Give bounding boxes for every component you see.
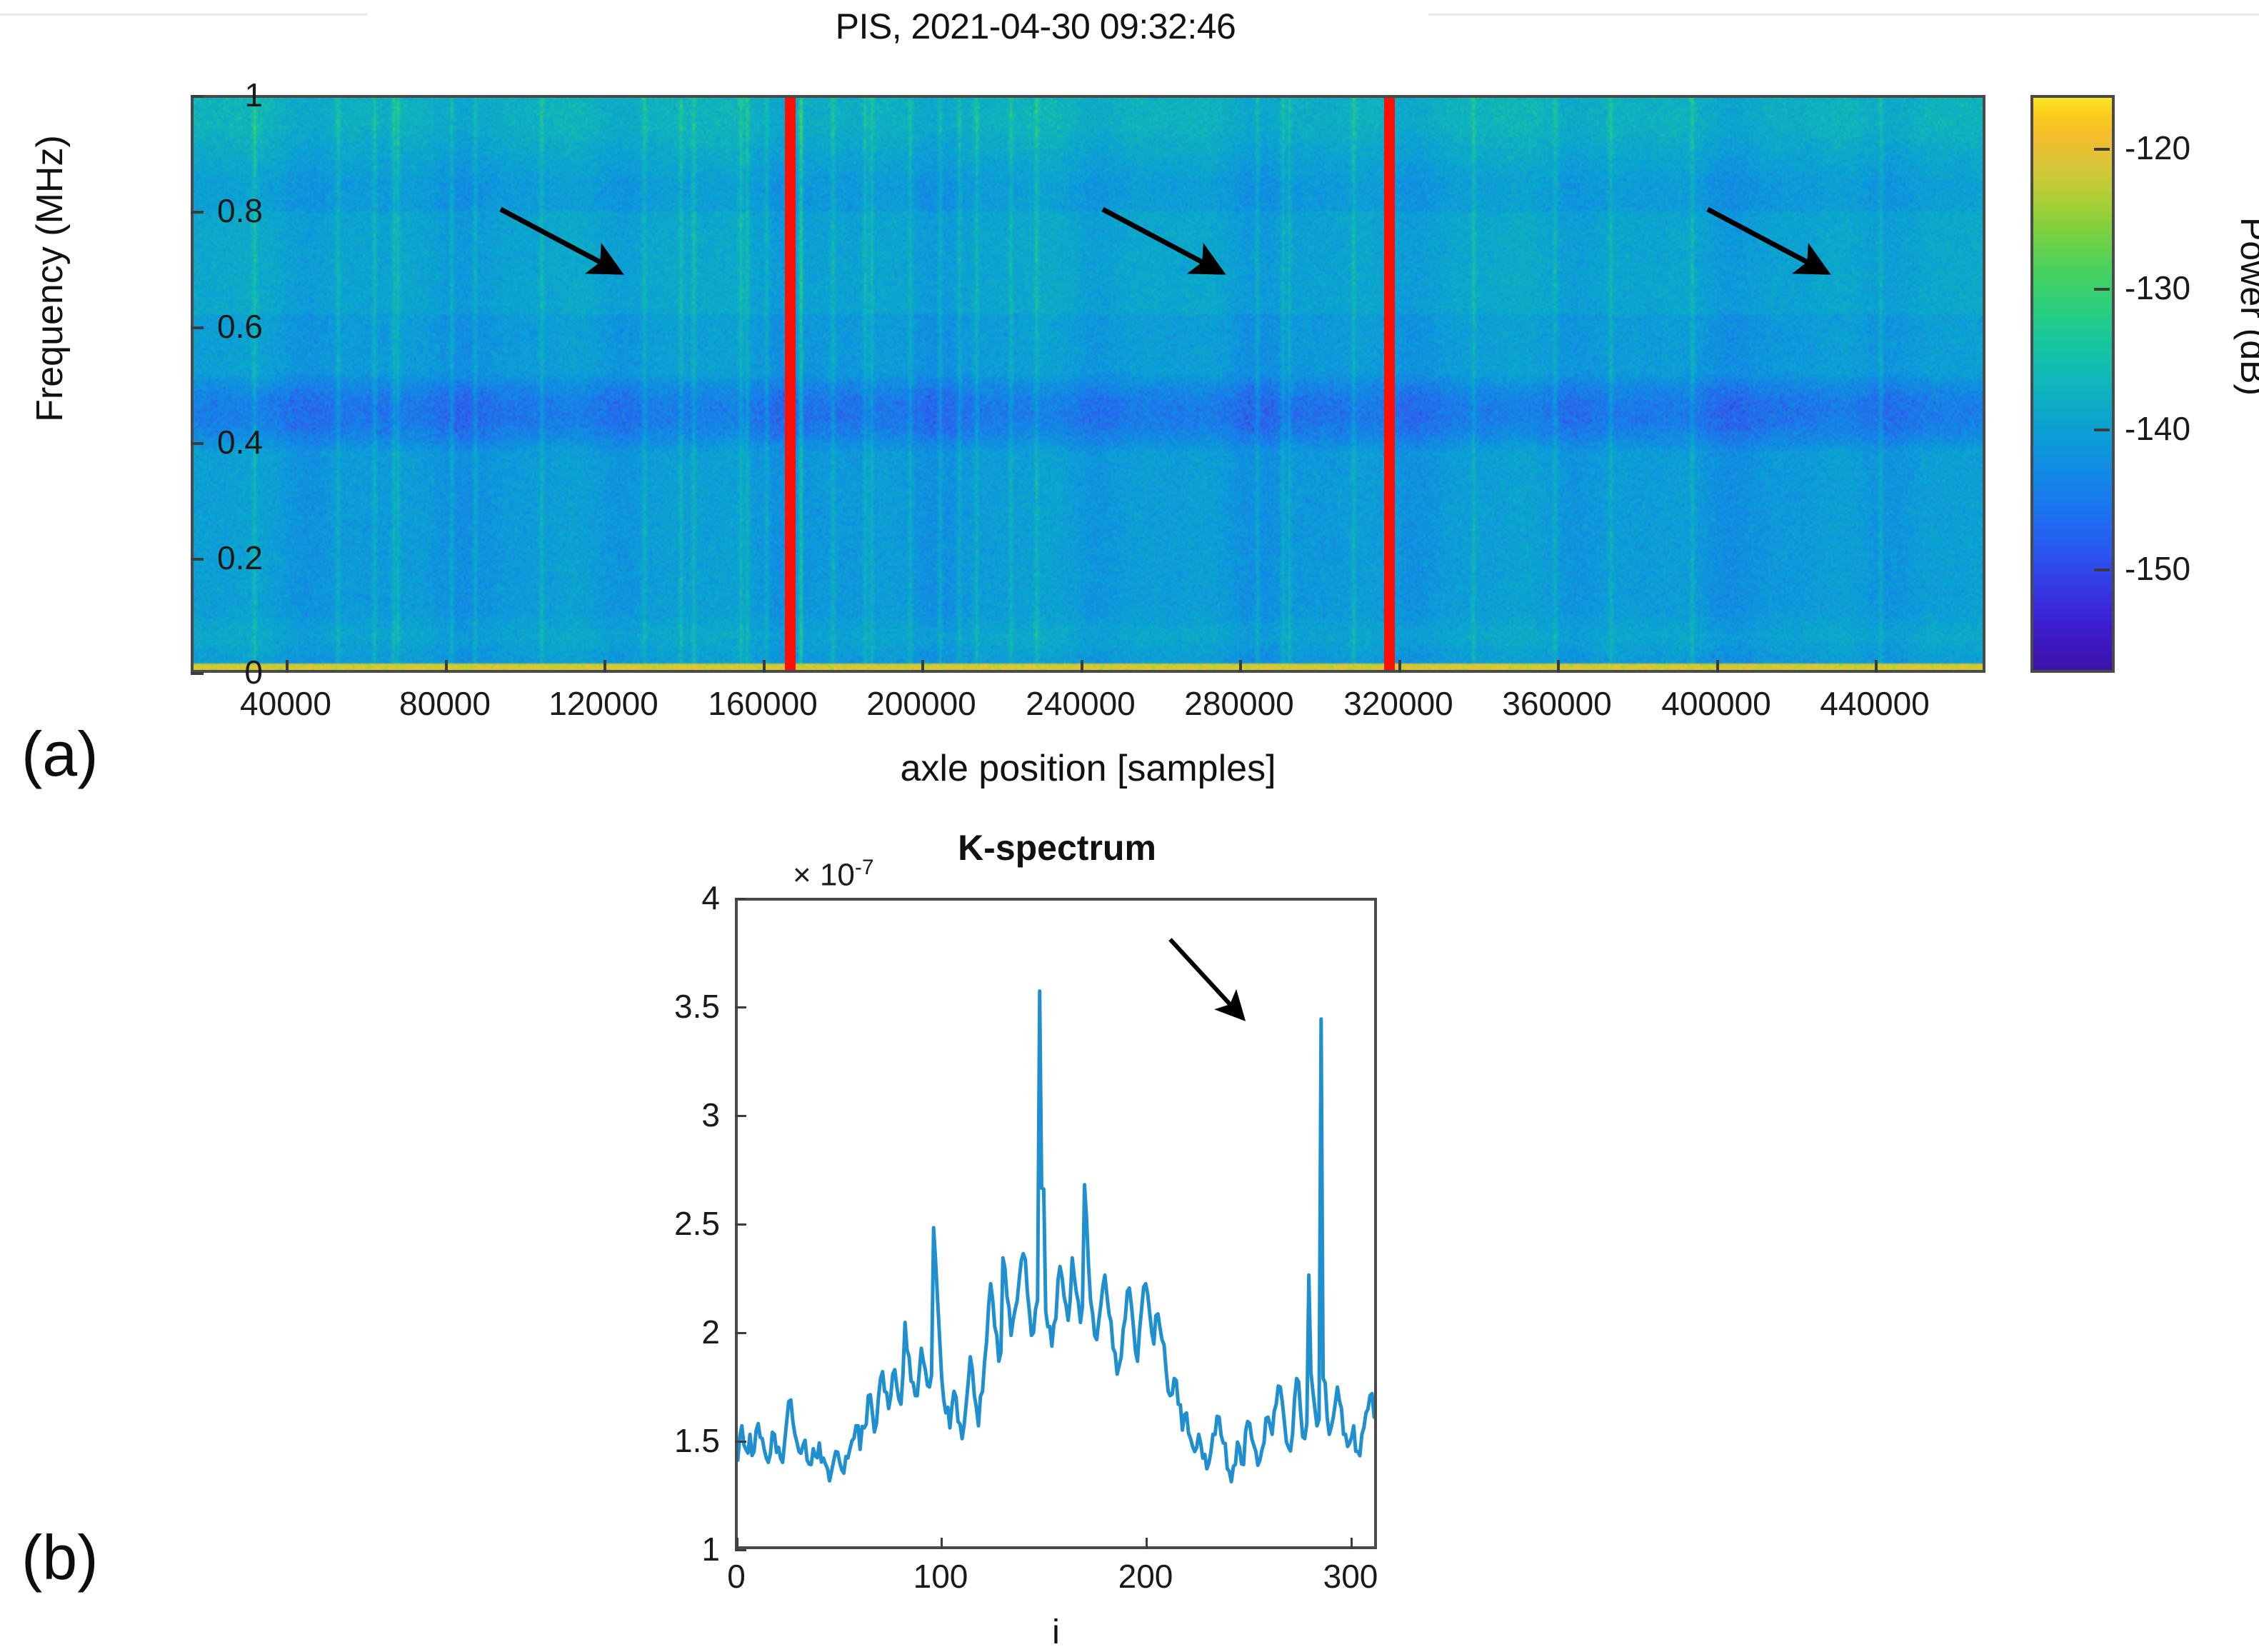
kspectrum-x-tickmark [1146,1538,1148,1549]
exponent-base: × 10 [793,858,855,893]
y-tick-label: 0.4 [49,423,263,461]
x-tickmark [921,660,924,673]
kspectrum-x-axis-label: i [735,1613,1377,1652]
y-tick-label: 1 [49,76,263,114]
kspectrum-x-tickmark [941,1538,943,1549]
x-tickmark [1557,660,1560,673]
x-tickmark [763,660,766,673]
kspectrum-x-tick-label: 200 [1060,1557,1231,1596]
kspectrum-y-tickmark [735,1441,746,1443]
kspectrum-peak-arrow [1170,939,1241,1016]
kspectrum-y-tickmark [735,1006,746,1008]
kspectrum-x-tickmark [736,1538,738,1549]
kspectrum-y-tick-label: 2 [534,1313,720,1351]
x-tickmark [603,660,606,673]
kspectrum-line-svg [738,901,1374,1546]
kspectrum-trace [738,991,1374,1482]
colorbar-tick-label: -140 [2125,409,2190,448]
kspectrum-x-tickmark [1351,1538,1353,1549]
kspectrum-y-tick-label: 4 [534,878,720,917]
x-tickmark [1081,660,1083,673]
x-tickmark [1875,660,1878,673]
x-tickmark [445,660,448,673]
colorbar-tickmark [2094,288,2110,291]
x-tickmark [1716,660,1719,673]
kspectrum-y-tickmark [735,1332,746,1334]
spectrogram-plot-area [191,95,1985,673]
spectrogram-arrow-overlay [194,98,1983,670]
kspectrum-plot-area [735,898,1377,1549]
y-tick-label: 0.2 [49,539,263,577]
kspectrum-y-tickmark [735,898,746,900]
colorbar-tickmark [2094,429,2110,431]
panel-a-tag: (a) [21,718,99,791]
kspectrum-exponent-label: × 10-7 [793,856,874,893]
spectrogram-x-axis-label: axle position [samples] [191,747,1985,790]
figure-root: PIS, 2021-04-30 09:32:46 Frequency (MHz) [0,0,2259,1593]
x-tickmark [1398,660,1401,673]
kspectrum-y-tickmark [735,1115,746,1117]
panel-b-tag: (b) [21,1521,99,1594]
spectrogram-arrow-1 [501,209,618,271]
colorbar-tickmark [2094,148,2110,151]
kspectrum-x-tick-label: 0 [651,1557,822,1596]
kspectrum-y-tick-label: 1.5 [534,1421,720,1460]
colorbar [2030,95,2115,673]
kspectrum-x-tick-label: 100 [855,1557,1026,1596]
kspectrum-y-tick-label: 3.5 [534,987,720,1026]
spectrogram-arrow-3 [1708,209,1825,271]
colorbar-tickmark [2094,569,2110,571]
spectrogram-arrow-2 [1103,209,1220,271]
spectrogram-title: PIS, 2021-04-30 09:32:46 [0,6,2071,47]
exponent-power: -7 [855,856,874,879]
y-tick-label: 0.6 [49,307,263,346]
y-tick-label: 0.8 [49,191,263,230]
x-tickmark [286,660,289,673]
colorbar-tick-label: -150 [2125,549,2190,588]
colorbar-tick-label: -130 [2125,269,2190,307]
colorbar-label: Power (dB) [2233,128,2259,485]
kspectrum-y-tickmark [735,1549,746,1551]
x-tickmark [1239,660,1242,673]
kspectrum-y-tickmark [735,1223,746,1226]
panel-b-kspectrum: K-spectrum × 10-7 4 3.5 3 2.5 [0,807,2259,1593]
x-tick-label: 440000 [1753,684,1996,723]
kspectrum-y-tick-label: 3 [534,1096,720,1134]
panel-a-spectrogram: PIS, 2021-04-30 09:32:46 Frequency (MHz) [0,0,2259,807]
kspectrum-y-tick-label: 2.5 [534,1204,720,1243]
colorbar-tick-label: -120 [2125,129,2190,167]
kspectrum-x-tick-label: 300 [1265,1557,1436,1596]
